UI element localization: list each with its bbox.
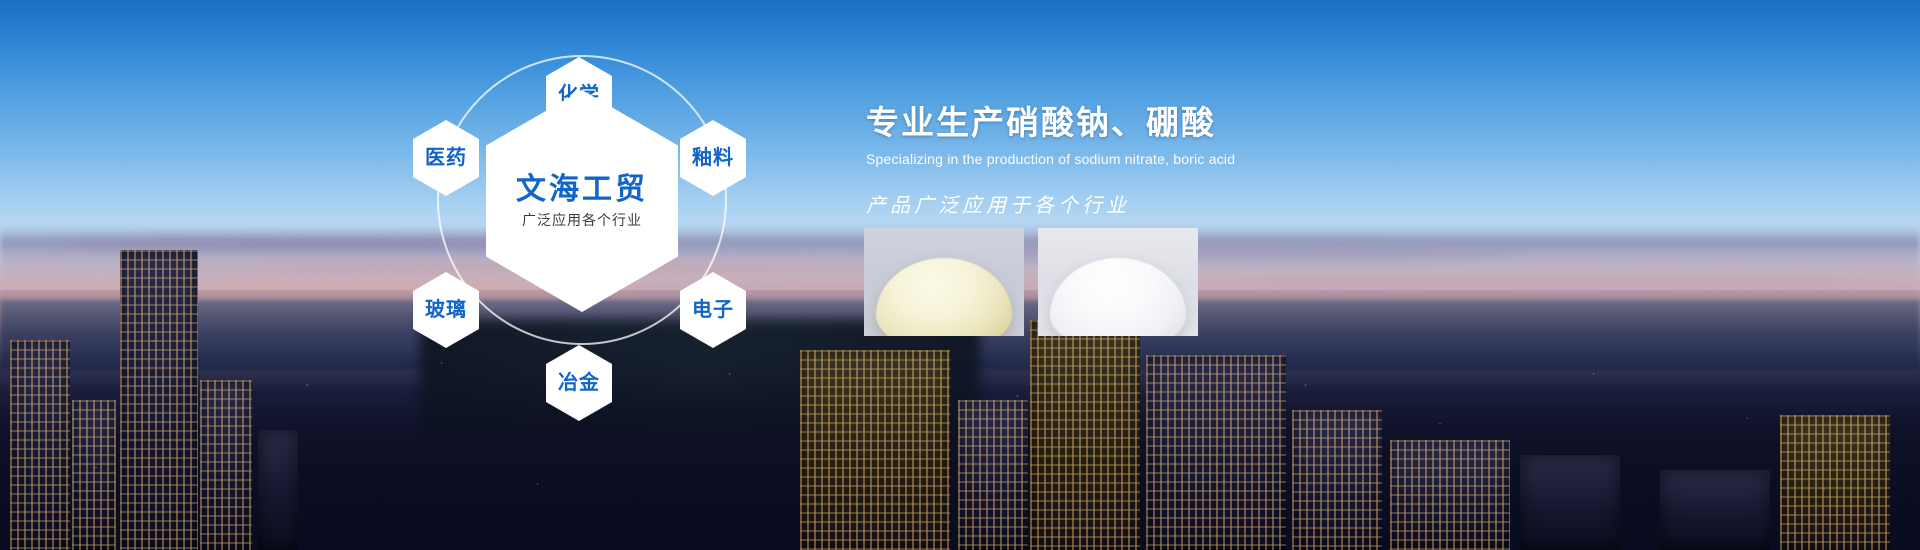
powder-grain-texture bbox=[864, 228, 1024, 336]
powder-grain-texture bbox=[1038, 228, 1198, 336]
marketing-copy: 专业生产硝酸钠、硼酸 Specializing in the productio… bbox=[866, 104, 1486, 218]
product-photo-boric-acid bbox=[1038, 228, 1198, 336]
headline-cn: 专业生产硝酸钠、硼酸 bbox=[866, 104, 1486, 142]
hex-node-metallurgy[interactable]: 冶金 bbox=[546, 345, 612, 421]
subhead-en: Specializing in the production of sodium… bbox=[866, 151, 1486, 167]
product-photo-sodium-nitrate bbox=[864, 228, 1024, 336]
hex-node-label: 医药 bbox=[425, 148, 467, 168]
product-photo-strip bbox=[864, 228, 1198, 336]
hexagon-diagram: 化学 釉料 电子 冶金 玻璃 医药 文海工贸 广泛应用各个行业 bbox=[400, 20, 820, 450]
hex-node-label: 釉料 bbox=[692, 148, 734, 168]
hex-node-label: 冶金 bbox=[558, 373, 600, 393]
hex-node-label: 玻璃 bbox=[425, 300, 467, 320]
hero-banner: 化学 釉料 电子 冶金 玻璃 医药 文海工贸 广泛应用各个行业 专业生产硝酸钠、… bbox=[0, 0, 1920, 550]
hex-node-label: 电子 bbox=[692, 300, 734, 320]
company-name: 文海工贸 bbox=[516, 175, 648, 205]
company-tagline: 广泛应用各个行业 bbox=[522, 213, 642, 227]
tagline-cn: 产品广泛应用于各个行业 bbox=[866, 189, 1486, 218]
